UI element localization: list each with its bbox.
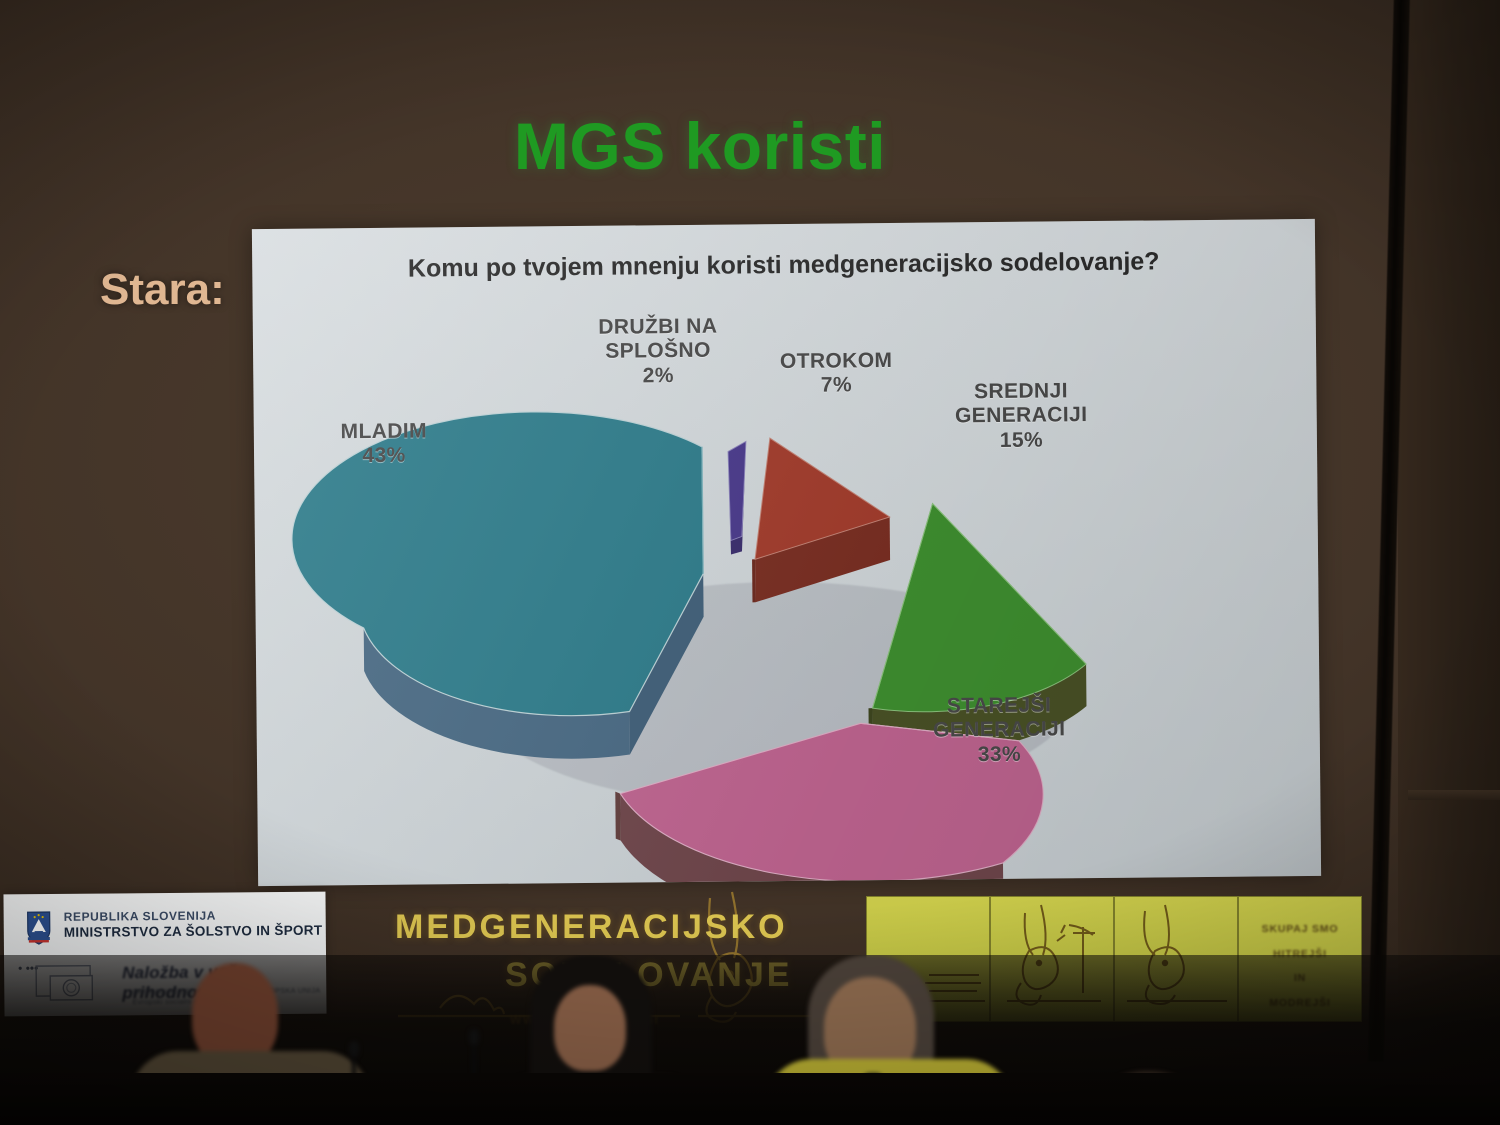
pie-slice-otrokom — [751, 437, 891, 602]
wall-ledge — [1408, 790, 1500, 800]
ministry-line-1: REPUBLIKA SLOVENIJA — [64, 909, 216, 924]
photo-of-projected-slide: MGS koristi Stara: Komu po tvojem mnenju… — [0, 0, 1500, 1125]
ministry-line-2: MINISTRSTVO ZA ŠOLSTVO IN ŠPORT — [64, 923, 323, 940]
pie-chart: MLADIM 43% DRUŽBI NA SPLOŠNO 2% OTROKOM … — [252, 219, 1321, 886]
pie-label-otrokom: OTROKOM 7% — [751, 349, 921, 399]
chart-panel: Komu po tvojem mnenju koristi medgenerac… — [252, 219, 1321, 886]
panel-table-edge — [0, 1073, 1500, 1125]
pie-slice-druzbi-na-splosno — [728, 441, 747, 554]
audience-foreground — [0, 955, 1500, 1125]
pie-label-mladim: MLADIM 43% — [284, 419, 484, 470]
pie-label-starejsi-generaciji: STAREJŠI GENERACIJI 33% — [891, 693, 1107, 768]
comic-text-line-1: SKUPAJ SMO — [1262, 923, 1339, 935]
pie-label-druzbi-na-splosno: DRUŽBI NA SPLOŠNO 2% — [563, 314, 754, 389]
slide-subtitle: Stara: — [100, 265, 225, 315]
pie-label-srednji-generaciji: SREDNJI GENERACIJI 15% — [913, 379, 1129, 454]
projected-slide: MGS koristi Stara: Komu po tvojem mnenju… — [0, 0, 1400, 905]
wordmark-line-1: MEDGENERACIJSKO — [395, 908, 788, 947]
pie-chart-svg — [252, 219, 1321, 886]
slide-title: MGS koristi — [0, 108, 1400, 184]
slovenia-coat-of-arms-icon — [26, 911, 52, 945]
